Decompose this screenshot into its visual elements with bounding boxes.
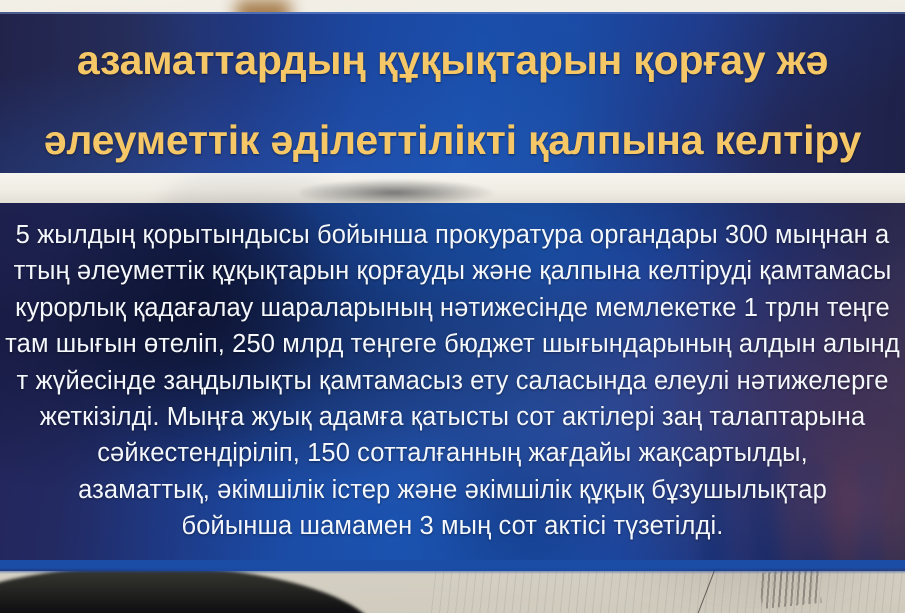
- body-line-8: азаматтық, әкімшілік істер және әкімшілі…: [0, 472, 905, 508]
- body-line-3: курорлық қадағалау шараларының нәтижесін…: [0, 290, 905, 326]
- panel-bottom-fade: [0, 560, 905, 574]
- body-panel: 5 жылдың қорытындысы бойынша прокуратура…: [0, 203, 905, 571]
- poster-title-line-2: әлеуметтік әділеттілікті қалпына келтіру: [0, 110, 905, 170]
- body-line-5: т жүйесінде заңдылықты қамтамасыз ету са…: [0, 363, 905, 399]
- poster-title-line-1: азаматтардың құқықтарын қорғау жә: [0, 30, 905, 90]
- body-line-4: там шығын өтеліп, 250 млрд теңгеге бюдже…: [0, 326, 905, 362]
- body-line-7: сәйкестендіріліп, 150 сотталғанның жағда…: [0, 435, 905, 471]
- body-line-6: жеткізілді. Мыңға жуық адамға қатысты со…: [0, 399, 905, 435]
- banner-top-hairline: [0, 12, 905, 14]
- body-line-1: 5 жылдың қорытындысы бойынша прокуратура…: [0, 217, 905, 253]
- infographic-poster: азаматтардың құқықтарын қорғау жә әлеуме…: [0, 0, 905, 613]
- section-divider: [0, 173, 905, 203]
- body-line-2: ттың әлеуметтік құқықтарын қорғауды және…: [0, 253, 905, 289]
- title-banner: азаматтардың құқықтарын қорғау жә әлеуме…: [0, 12, 905, 173]
- body-line-9: бойынша шамамен 3 мың сот актісі түзетіл…: [0, 508, 905, 544]
- poster-body-text: 5 жылдың қорытындысы бойынша прокуратура…: [0, 203, 905, 545]
